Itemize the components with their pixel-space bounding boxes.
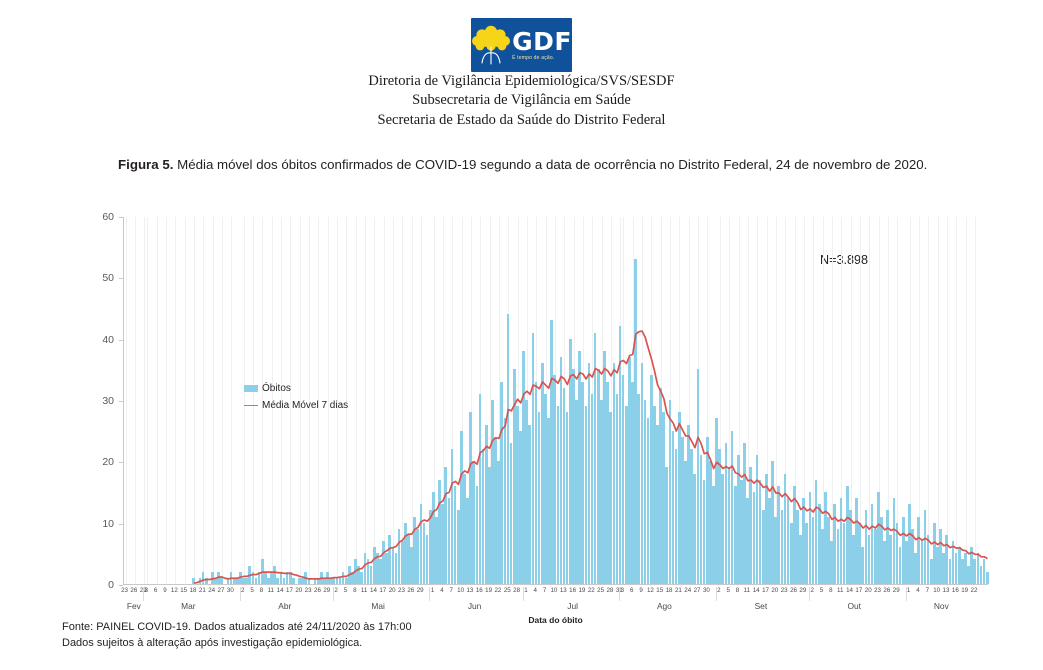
x-axis-tick-label: 27 [218, 587, 225, 594]
x-axis-tick-label: 2 [717, 587, 720, 594]
x-axis-month-label: Fev [127, 601, 141, 611]
x-axis-tick-label: 8 [353, 587, 356, 594]
x-axis-tick-label: 26 [883, 587, 890, 594]
x-axis-month-label: Jul [567, 601, 578, 611]
y-axis-tick-label: 30 [86, 395, 114, 407]
x-axis-tick-label: 14 [277, 587, 284, 594]
month-separator [619, 587, 620, 601]
x-axis-tick-label: 19 [961, 587, 968, 594]
month-separator [809, 587, 810, 601]
x-axis-tick-label: 8 [736, 587, 739, 594]
gdf-logo-text: GDF É tempo de ação. [512, 29, 572, 61]
x-axis-tick-label: 25 [597, 587, 604, 594]
x-axis-tick-label: 11 [744, 587, 750, 594]
y-axis-tick-label: 20 [86, 456, 114, 468]
x-axis-tick-label: 24 [208, 587, 215, 594]
x-axis-tick-label: 13 [943, 587, 950, 594]
figure-page: GDF É tempo de ação. Diretoria de Vigilâ… [0, 0, 1043, 670]
x-axis-tick-label: 22 [494, 587, 501, 594]
month-separator [429, 587, 430, 601]
x-axis-tick-label: 25 [504, 587, 511, 594]
x-axis-month-label: Mar [181, 601, 195, 611]
x-axis-tick-label: 11 [361, 587, 367, 594]
x-axis-tick-label: 1 [431, 587, 434, 594]
x-axis-tick-label: 11 [837, 587, 843, 594]
x-axis-tick-label: 10 [457, 587, 464, 594]
legend-label-obitos: Óbitos [262, 383, 291, 394]
x-axis-tick-label: 20 [865, 587, 872, 594]
x-axis-tick-label: 14 [753, 587, 760, 594]
x-axis-tick-label: 8 [260, 587, 263, 594]
footer-line-2: Dados sujeitos à alteração após investig… [62, 636, 762, 652]
x-axis-month-label: Jun [468, 601, 482, 611]
x-axis-tick-label: 17 [762, 587, 769, 594]
gdf-wordmark: GDF [512, 29, 572, 54]
x-axis-tick-label: 29 [799, 587, 806, 594]
x-axis-tick-label: 17 [855, 587, 862, 594]
x-axis-tick-label: 7 [543, 587, 546, 594]
org-line-1: Diretoria de Vigilância Epidemiológica/S… [0, 72, 1043, 91]
legend-swatch-line-icon [244, 405, 258, 406]
x-axis-tick-label: 18 [666, 587, 673, 594]
x-axis-tick-label: 26 [407, 587, 414, 594]
x-axis-tick-label: 6 [630, 587, 633, 594]
x-axis-tick-label: 17 [286, 587, 293, 594]
y-axis-tick-label: 0 [86, 579, 114, 591]
y-axis-tick-label: 50 [86, 272, 114, 284]
x-axis-tick-label: 26 [314, 587, 321, 594]
x-axis-tick-label: 21 [675, 587, 682, 594]
x-axis-tick-label: 1 [907, 587, 910, 594]
x-axis-tick-label: 12 [647, 587, 654, 594]
x-axis-month-label: Set [755, 601, 768, 611]
moving-average-path [194, 331, 987, 583]
y-axis-tick-label: 40 [86, 334, 114, 346]
x-axis-tick-label: 10 [933, 587, 940, 594]
x-axis-month-labels: FevMarAbrMaiJunJulAgoSetOutNov [123, 601, 988, 615]
x-axis-tick-label: 16 [569, 587, 576, 594]
gdf-tagline: É tempo de ação. [512, 56, 554, 61]
x-axis-tick-label: 1 [524, 587, 527, 594]
x-axis-tick-label: 28 [606, 587, 613, 594]
x-axis-tick-label: 23 [305, 587, 312, 594]
x-axis-tick-label: 13 [466, 587, 473, 594]
x-axis-month-label: Out [847, 601, 861, 611]
x-axis-tick-label: 14 [846, 587, 853, 594]
x-axis-tick-label: 20 [771, 587, 778, 594]
month-separator [906, 587, 907, 601]
x-axis-tick-label: 18 [190, 587, 197, 594]
x-axis-tick-label: 9 [639, 587, 642, 594]
x-axis-tick-label: 26 [130, 587, 137, 594]
x-axis-tick-label: 14 [370, 587, 377, 594]
x-axis-tick-label: 27 [694, 587, 701, 594]
x-axis-tick-label: 26 [790, 587, 797, 594]
ipe-tree-icon [471, 23, 511, 67]
x-axis-tick-label: 19 [578, 587, 585, 594]
x-axis-tick-label: 22 [971, 587, 978, 594]
figure-label: Figura 5. [118, 157, 173, 172]
x-axis-tick-label: 21 [199, 587, 206, 594]
x-axis-tick-label: 2 [241, 587, 244, 594]
x-axis-tick-label: 12 [171, 587, 178, 594]
x-axis-month-label: Mai [371, 601, 385, 611]
figure-source-footer: Fonte: PAINEL COVID-19. Dados atualizado… [62, 620, 762, 651]
footer-line-1: Fonte: PAINEL COVID-19. Dados atualizado… [62, 620, 762, 636]
x-axis-tick-label: 5 [250, 587, 253, 594]
legend-item-obitos: Óbitos [244, 380, 348, 397]
x-axis-tick-label: 30 [227, 587, 234, 594]
x-axis-tick-label: 30 [703, 587, 710, 594]
x-axis-tick-label: 28 [513, 587, 520, 594]
x-axis-tick-label: 29 [417, 587, 424, 594]
x-axis-tick-label: 16 [476, 587, 483, 594]
gdf-logo: GDF É tempo de ação. [471, 18, 572, 72]
x-axis-tick-label: 3 [145, 587, 148, 594]
x-axis-tick-label: 20 [295, 587, 302, 594]
legend-item-media-movel: Média Móvel 7 dias [244, 397, 348, 414]
figure-caption: Figura 5. Média móvel dos óbitos confirm… [118, 157, 998, 172]
x-axis-tick-label: 13 [560, 587, 567, 594]
month-separator [143, 587, 144, 601]
figure-caption-text: Média móvel dos óbitos confirmados de CO… [177, 157, 927, 172]
x-axis-tick-label: 2 [334, 587, 337, 594]
x-axis-tick-label: 10 [550, 587, 557, 594]
x-axis-tick-label: 2 [810, 587, 813, 594]
x-axis-tick-label: 7 [926, 587, 929, 594]
y-axis-tick-mark [119, 585, 123, 586]
x-axis-tick-label: 15 [656, 587, 663, 594]
x-axis-tick-label: 16 [952, 587, 959, 594]
x-axis-tick-label: 4 [534, 587, 537, 594]
x-axis-tick-label: 20 [389, 587, 396, 594]
x-axis-tick-label: 15 [180, 587, 187, 594]
month-separator [716, 587, 717, 601]
x-axis-tick-label: 23 [781, 587, 788, 594]
x-axis-month-label: Nov [934, 601, 949, 611]
x-axis-tick-label: 4 [440, 587, 443, 594]
x-axis-tick-label: 7 [450, 587, 453, 594]
legend-swatch-bar-icon [244, 385, 258, 392]
legend-label-media-movel: Média Móvel 7 dias [262, 400, 348, 411]
x-axis-tick-label: 5 [726, 587, 729, 594]
month-separator [523, 587, 524, 601]
x-axis-tick-label: 19 [485, 587, 492, 594]
x-axis-tick-label: 4 [916, 587, 919, 594]
organization-header: Diretoria de Vigilância Epidemiológica/S… [0, 72, 1043, 130]
x-axis-day-ticks: 2326293691215182124273025811141720232629… [123, 587, 988, 598]
x-axis-tick-label: 5 [820, 587, 823, 594]
x-axis-tick-label: 8 [829, 587, 832, 594]
chart-legend: Óbitos Média Móvel 7 dias [244, 380, 348, 414]
chart-figure: N=3.898 0102030405060 Óbitos Média Móvel… [58, 205, 1008, 625]
org-line-3: Secretaria de Estado da Saúde do Distrit… [0, 111, 1043, 130]
x-axis-tick-label: 24 [684, 587, 691, 594]
y-axis-tick-label: 10 [86, 518, 114, 530]
x-axis-tick-label: 29 [893, 587, 900, 594]
month-separator [333, 587, 334, 601]
x-axis-tick-label: 23 [121, 587, 128, 594]
x-axis-month-label: Abr [278, 601, 291, 611]
x-axis-month-label: Ago [657, 601, 672, 611]
x-axis-tick-label: 3 [621, 587, 624, 594]
x-axis-tick-label: 5 [344, 587, 347, 594]
x-axis-tick-label: 9 [163, 587, 166, 594]
x-axis-tick-label: 29 [323, 587, 330, 594]
x-axis-tick-label: 22 [588, 587, 595, 594]
x-axis-tick-label: 23 [874, 587, 881, 594]
x-axis-tick-label: 23 [398, 587, 405, 594]
x-axis-tick-label: 6 [154, 587, 157, 594]
y-axis-tick-label: 60 [86, 211, 114, 223]
month-separator [240, 587, 241, 601]
x-axis-tick-label: 17 [379, 587, 386, 594]
gdf-logo-container: GDF É tempo de ação. [0, 18, 1043, 72]
org-line-2: Subsecretaria de Vigilância em Saúde [0, 91, 1043, 110]
x-axis-tick-label: 11 [268, 587, 274, 594]
